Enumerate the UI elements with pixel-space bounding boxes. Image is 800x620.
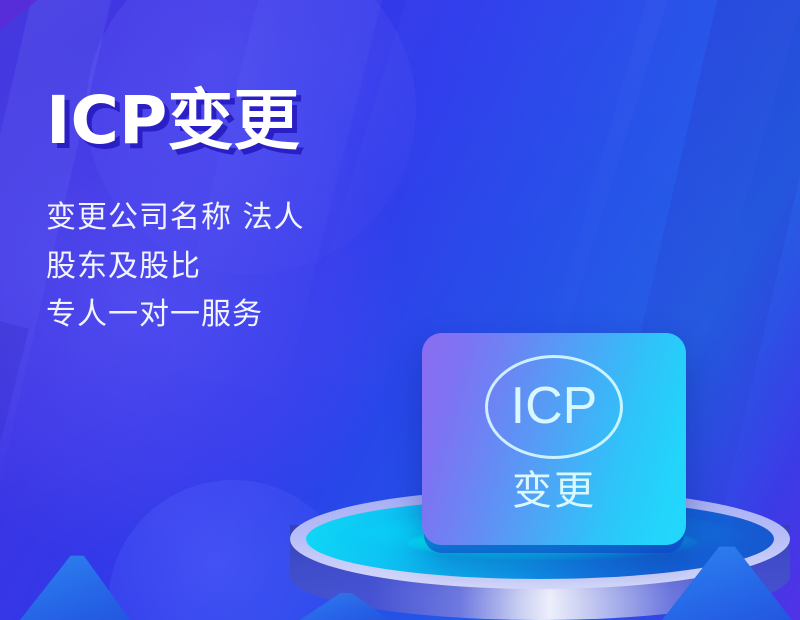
- copy-block: ICP变更 变更公司名称 法人 股东及股比 专人一对一服务: [46, 86, 446, 340]
- subtitle-line-2: 股东及股比: [46, 243, 446, 292]
- background-corner-accent: [0, 0, 40, 32]
- icp-badge-ellipse-icon: ICP: [485, 355, 623, 459]
- subtitle-line-1: 变更公司名称 法人: [46, 194, 446, 243]
- icp-card-content: ICP 变更: [422, 333, 686, 545]
- subtitle-line-3: 专人一对一服务: [46, 291, 446, 340]
- icp-card-label: 变更: [512, 471, 596, 511]
- icp-card[interactable]: ICP 变更: [422, 333, 686, 545]
- icp-badge-text: ICP: [511, 380, 598, 432]
- banner-root: ICP 变更 ICP变更 变更公司名称 法人 股东及股比 专人一对一服务: [0, 0, 800, 620]
- subtitle-list: 变更公司名称 法人 股东及股比 专人一对一服务: [46, 194, 446, 340]
- page-title: ICP变更: [46, 86, 446, 156]
